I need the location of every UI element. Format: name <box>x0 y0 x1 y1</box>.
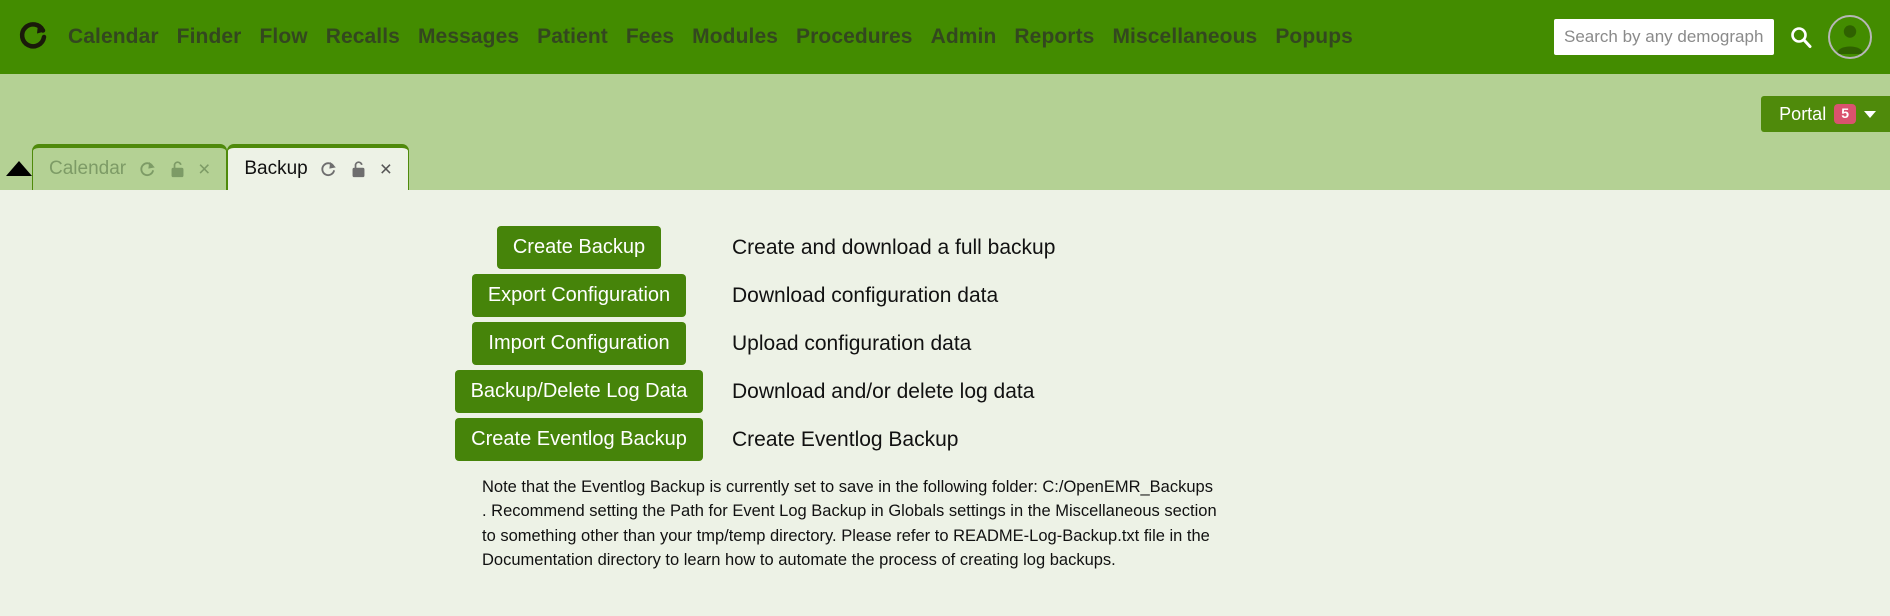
tab-backup[interactable]: Backup × <box>227 144 409 190</box>
backup-delete-log-data-description: Download and/or delete log data <box>732 380 1034 404</box>
create-backup-button[interactable]: Create Backup <box>497 226 661 269</box>
menu-item-procedures[interactable]: Procedures <box>796 25 913 49</box>
create-eventlog-backup-description: Create Eventlog Backup <box>732 428 958 452</box>
import-configuration-button[interactable]: Import Configuration <box>472 322 685 365</box>
unlock-icon[interactable] <box>168 160 186 178</box>
backup-action-list: Create Backup Create and download a full… <box>454 226 1890 461</box>
nav-right-group <box>1554 0 1872 74</box>
menu-item-popups[interactable]: Popups <box>1275 25 1353 49</box>
openemr-spinner-logo-icon[interactable] <box>10 14 56 60</box>
search-input[interactable] <box>1554 19 1774 55</box>
search-icon[interactable] <box>1788 24 1814 50</box>
export-configuration-description: Download configuration data <box>732 284 998 308</box>
top-navigation-bar: Calendar Finder Flow Recalls Messages Pa… <box>0 0 1890 74</box>
eventlog-backup-note: Note that the Eventlog Backup is current… <box>482 475 1222 573</box>
menu-item-patient[interactable]: Patient <box>537 25 608 49</box>
close-icon[interactable]: × <box>380 159 392 180</box>
menu-item-calendar[interactable]: Calendar <box>68 25 159 49</box>
portal-label: Portal <box>1779 104 1826 125</box>
tab-strip: Calendar × Backup <box>0 140 1890 190</box>
button-cell: Create Backup <box>454 226 704 269</box>
tab-backup-label: Backup <box>244 158 307 180</box>
chevron-down-icon[interactable] <box>1864 111 1876 118</box>
refresh-icon[interactable] <box>138 160 156 178</box>
button-cell: Import Configuration <box>454 322 704 365</box>
tab-calendar-label: Calendar <box>49 158 126 180</box>
refresh-icon[interactable] <box>320 160 338 178</box>
action-row-import-configuration: Import Configuration Upload configuratio… <box>454 322 1890 365</box>
create-eventlog-backup-button[interactable]: Create Eventlog Backup <box>455 418 703 461</box>
menu-item-flow[interactable]: Flow <box>259 25 307 49</box>
menu-item-admin[interactable]: Admin <box>931 25 997 49</box>
backup-page-content: Create Backup Create and download a full… <box>0 190 1890 616</box>
secondary-bar: Portal 5 <box>0 74 1890 140</box>
action-row-create-backup: Create Backup Create and download a full… <box>454 226 1890 269</box>
action-row-export-configuration: Export Configuration Download configurat… <box>454 274 1890 317</box>
tab-calendar[interactable]: Calendar × <box>32 144 227 190</box>
main-menu: Calendar Finder Flow Recalls Messages Pa… <box>68 25 1353 49</box>
portal-button[interactable]: Portal 5 <box>1761 96 1890 132</box>
export-configuration-button[interactable]: Export Configuration <box>472 274 686 317</box>
action-row-create-eventlog-backup: Create Eventlog Backup Create Eventlog B… <box>454 418 1890 461</box>
triangle-up-icon[interactable] <box>6 161 32 176</box>
menu-item-messages[interactable]: Messages <box>418 25 519 49</box>
action-row-backup-delete-log-data: Backup/Delete Log Data Download and/or d… <box>454 370 1890 413</box>
import-configuration-description: Upload configuration data <box>732 332 971 356</box>
button-cell: Export Configuration <box>454 274 704 317</box>
user-avatar-icon[interactable] <box>1828 15 1872 59</box>
create-backup-description: Create and download a full backup <box>732 236 1055 260</box>
menu-item-reports[interactable]: Reports <box>1014 25 1094 49</box>
unlock-icon[interactable] <box>350 160 368 178</box>
button-cell: Create Eventlog Backup <box>454 418 704 461</box>
menu-item-modules[interactable]: Modules <box>692 25 778 49</box>
menu-item-finder[interactable]: Finder <box>177 25 242 49</box>
portal-badge: 5 <box>1834 104 1856 123</box>
menu-item-fees[interactable]: Fees <box>626 25 674 49</box>
button-cell: Backup/Delete Log Data <box>454 370 704 413</box>
menu-item-recalls[interactable]: Recalls <box>326 25 400 49</box>
menu-item-miscellaneous[interactable]: Miscellaneous <box>1112 25 1257 49</box>
backup-delete-log-data-button[interactable]: Backup/Delete Log Data <box>455 370 704 413</box>
close-icon[interactable]: × <box>198 159 210 180</box>
